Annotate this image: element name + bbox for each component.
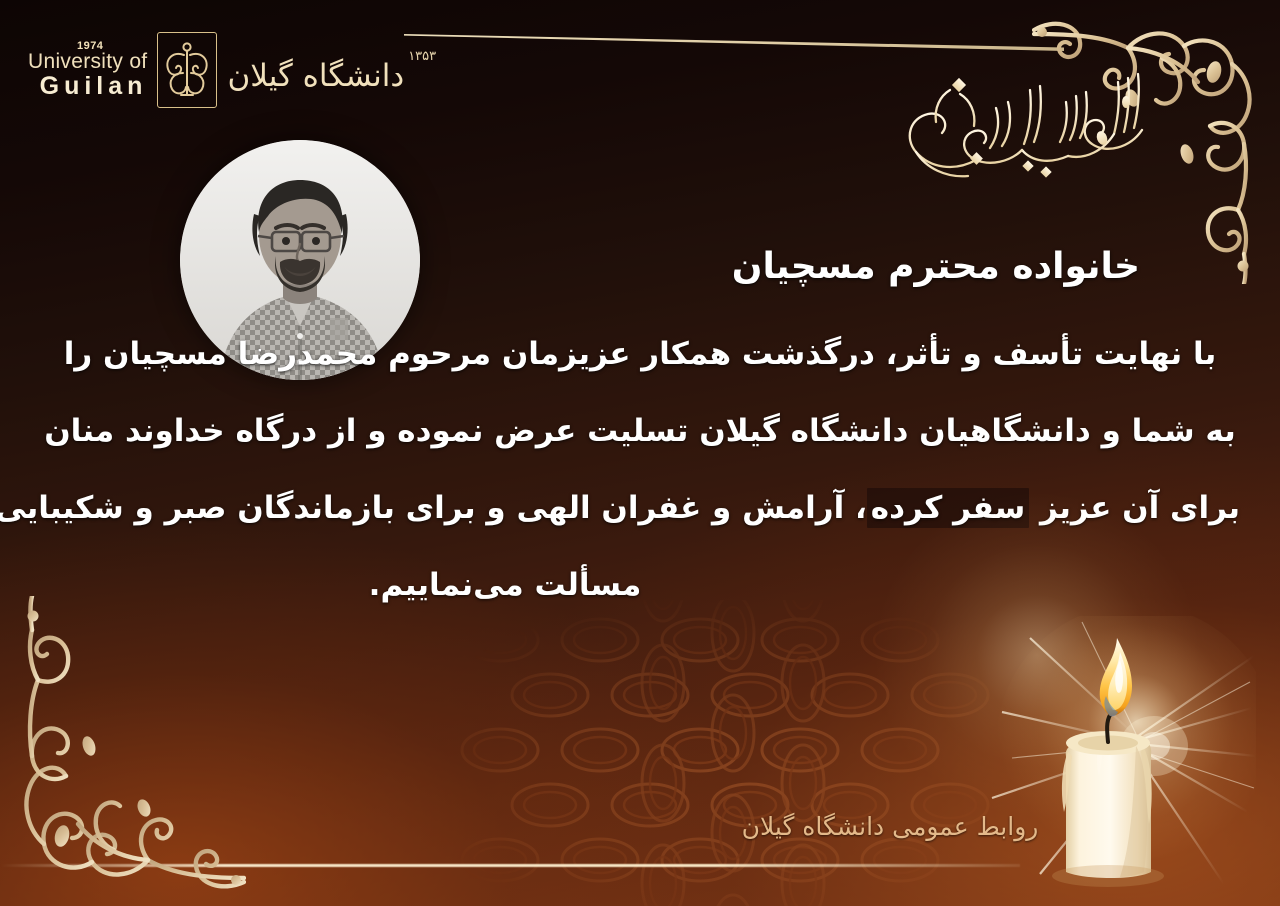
logo-university-name-fa: دانشگاه گیلان: [227, 61, 404, 92]
notice-line-4: مسألت می‌نماییم.: [0, 570, 1105, 601]
logo-guilan-word: Guilan: [40, 74, 148, 99]
lit-candle-icon: [986, 616, 1256, 906]
notice-body: خانواده محترم مسچیان با نهایت تأسف و تأث…: [40, 246, 1240, 601]
notice-line-3-highlight: سفر کرده: [867, 488, 1029, 528]
notice-line-2: به شما و دانشگاهیان دانشگاه گیلان تسلیت …: [40, 416, 1240, 447]
gold-tapered-line-icon: [404, 30, 1064, 54]
logo-founding-year-en: 1974: [77, 41, 103, 52]
logo-english-text: 1974 University of Guilan: [28, 41, 147, 99]
notice-line-3-before: برای آن عزیز: [1029, 490, 1240, 526]
arabesque-corner-ornament-icon: [6, 596, 246, 896]
logo-university-word: University of: [28, 51, 147, 72]
guilan-university-emblem-icon: [157, 32, 217, 108]
logo-persian-text: ۱۳۵۳ دانشگاه گیلان: [227, 49, 436, 92]
notice-line-1: با نهایت تأسف و تأثر، درگذشت همکار عزیزم…: [40, 339, 1240, 370]
condolence-poster: 1974 University of Guilan ۱۳۵۳ دانشگ: [0, 0, 1280, 906]
gold-hairline-icon: [0, 864, 1020, 867]
notice-line-3: برای آن عزیز سفر کرده، آرامش و غفران اله…: [40, 493, 1240, 524]
footer: روابط عمومی دانشگاه گیلان: [0, 812, 1280, 841]
logo-founding-year-fa: ۱۳۵۳: [408, 49, 436, 92]
notice-line-3-after: ، آرامش و غفران الهی و برای بازماندگان ص…: [0, 490, 867, 526]
islamic-interlace-pattern-icon: [430, 600, 990, 906]
university-logo: 1974 University of Guilan ۱۳۵۳ دانشگ: [28, 30, 436, 110]
page-title: خانواده محترم مسچیان: [40, 246, 1240, 287]
footer-text: روابط عمومی دانشگاه گیلان: [742, 812, 1039, 841]
